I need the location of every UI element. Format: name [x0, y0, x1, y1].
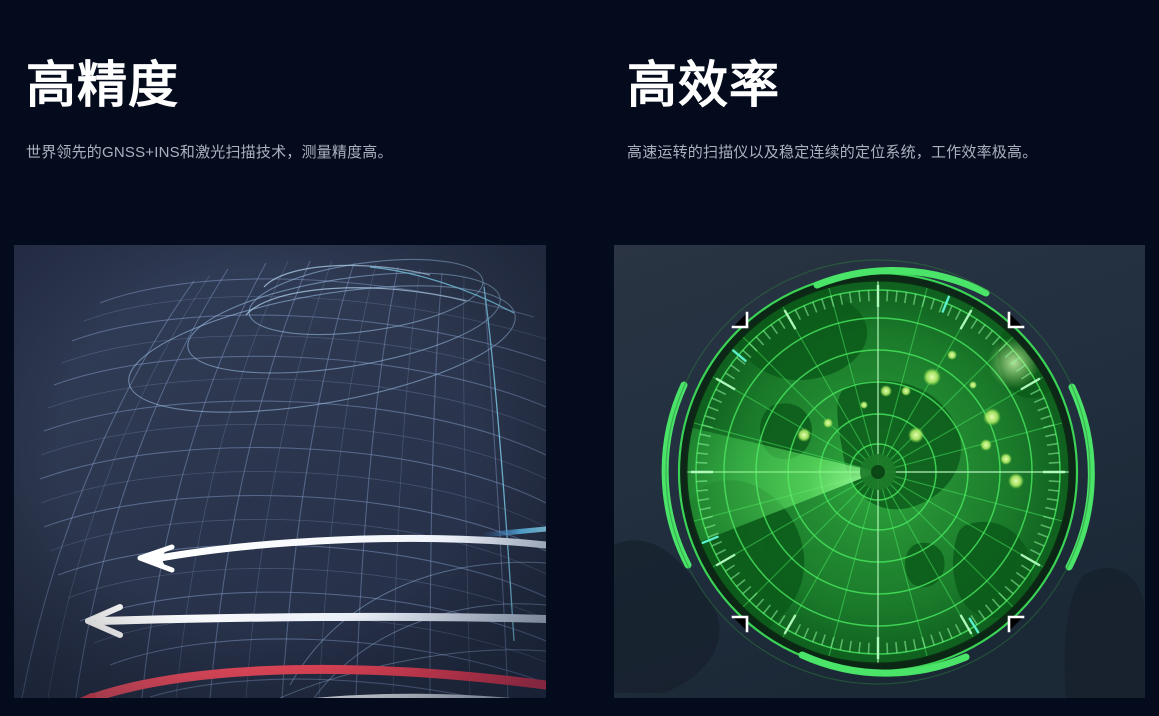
globe-grid-trajectories-image: [14, 245, 546, 698]
subtitle-precision: 世界领先的GNSS+INS和激光扫描技术，测量精度高。: [26, 142, 393, 165]
subtitle-efficiency: 高速运转的扫描仪以及稳定连续的定位系统，工作效率极高。: [627, 142, 1037, 165]
feature-column-precision: 高精度 世界领先的GNSS+INS和激光扫描技术，测量精度高。: [0, 0, 580, 716]
feature-section: 高精度 世界领先的GNSS+INS和激光扫描技术，测量精度高。: [0, 0, 1159, 716]
page-title-precision: 高精度: [26, 58, 179, 112]
page-title-efficiency: 高效率: [627, 58, 780, 112]
radar-sweep-image: [614, 245, 1145, 698]
feature-column-efficiency: 高效率 高速运转的扫描仪以及稳定连续的定位系统，工作效率极高。: [600, 0, 1159, 716]
